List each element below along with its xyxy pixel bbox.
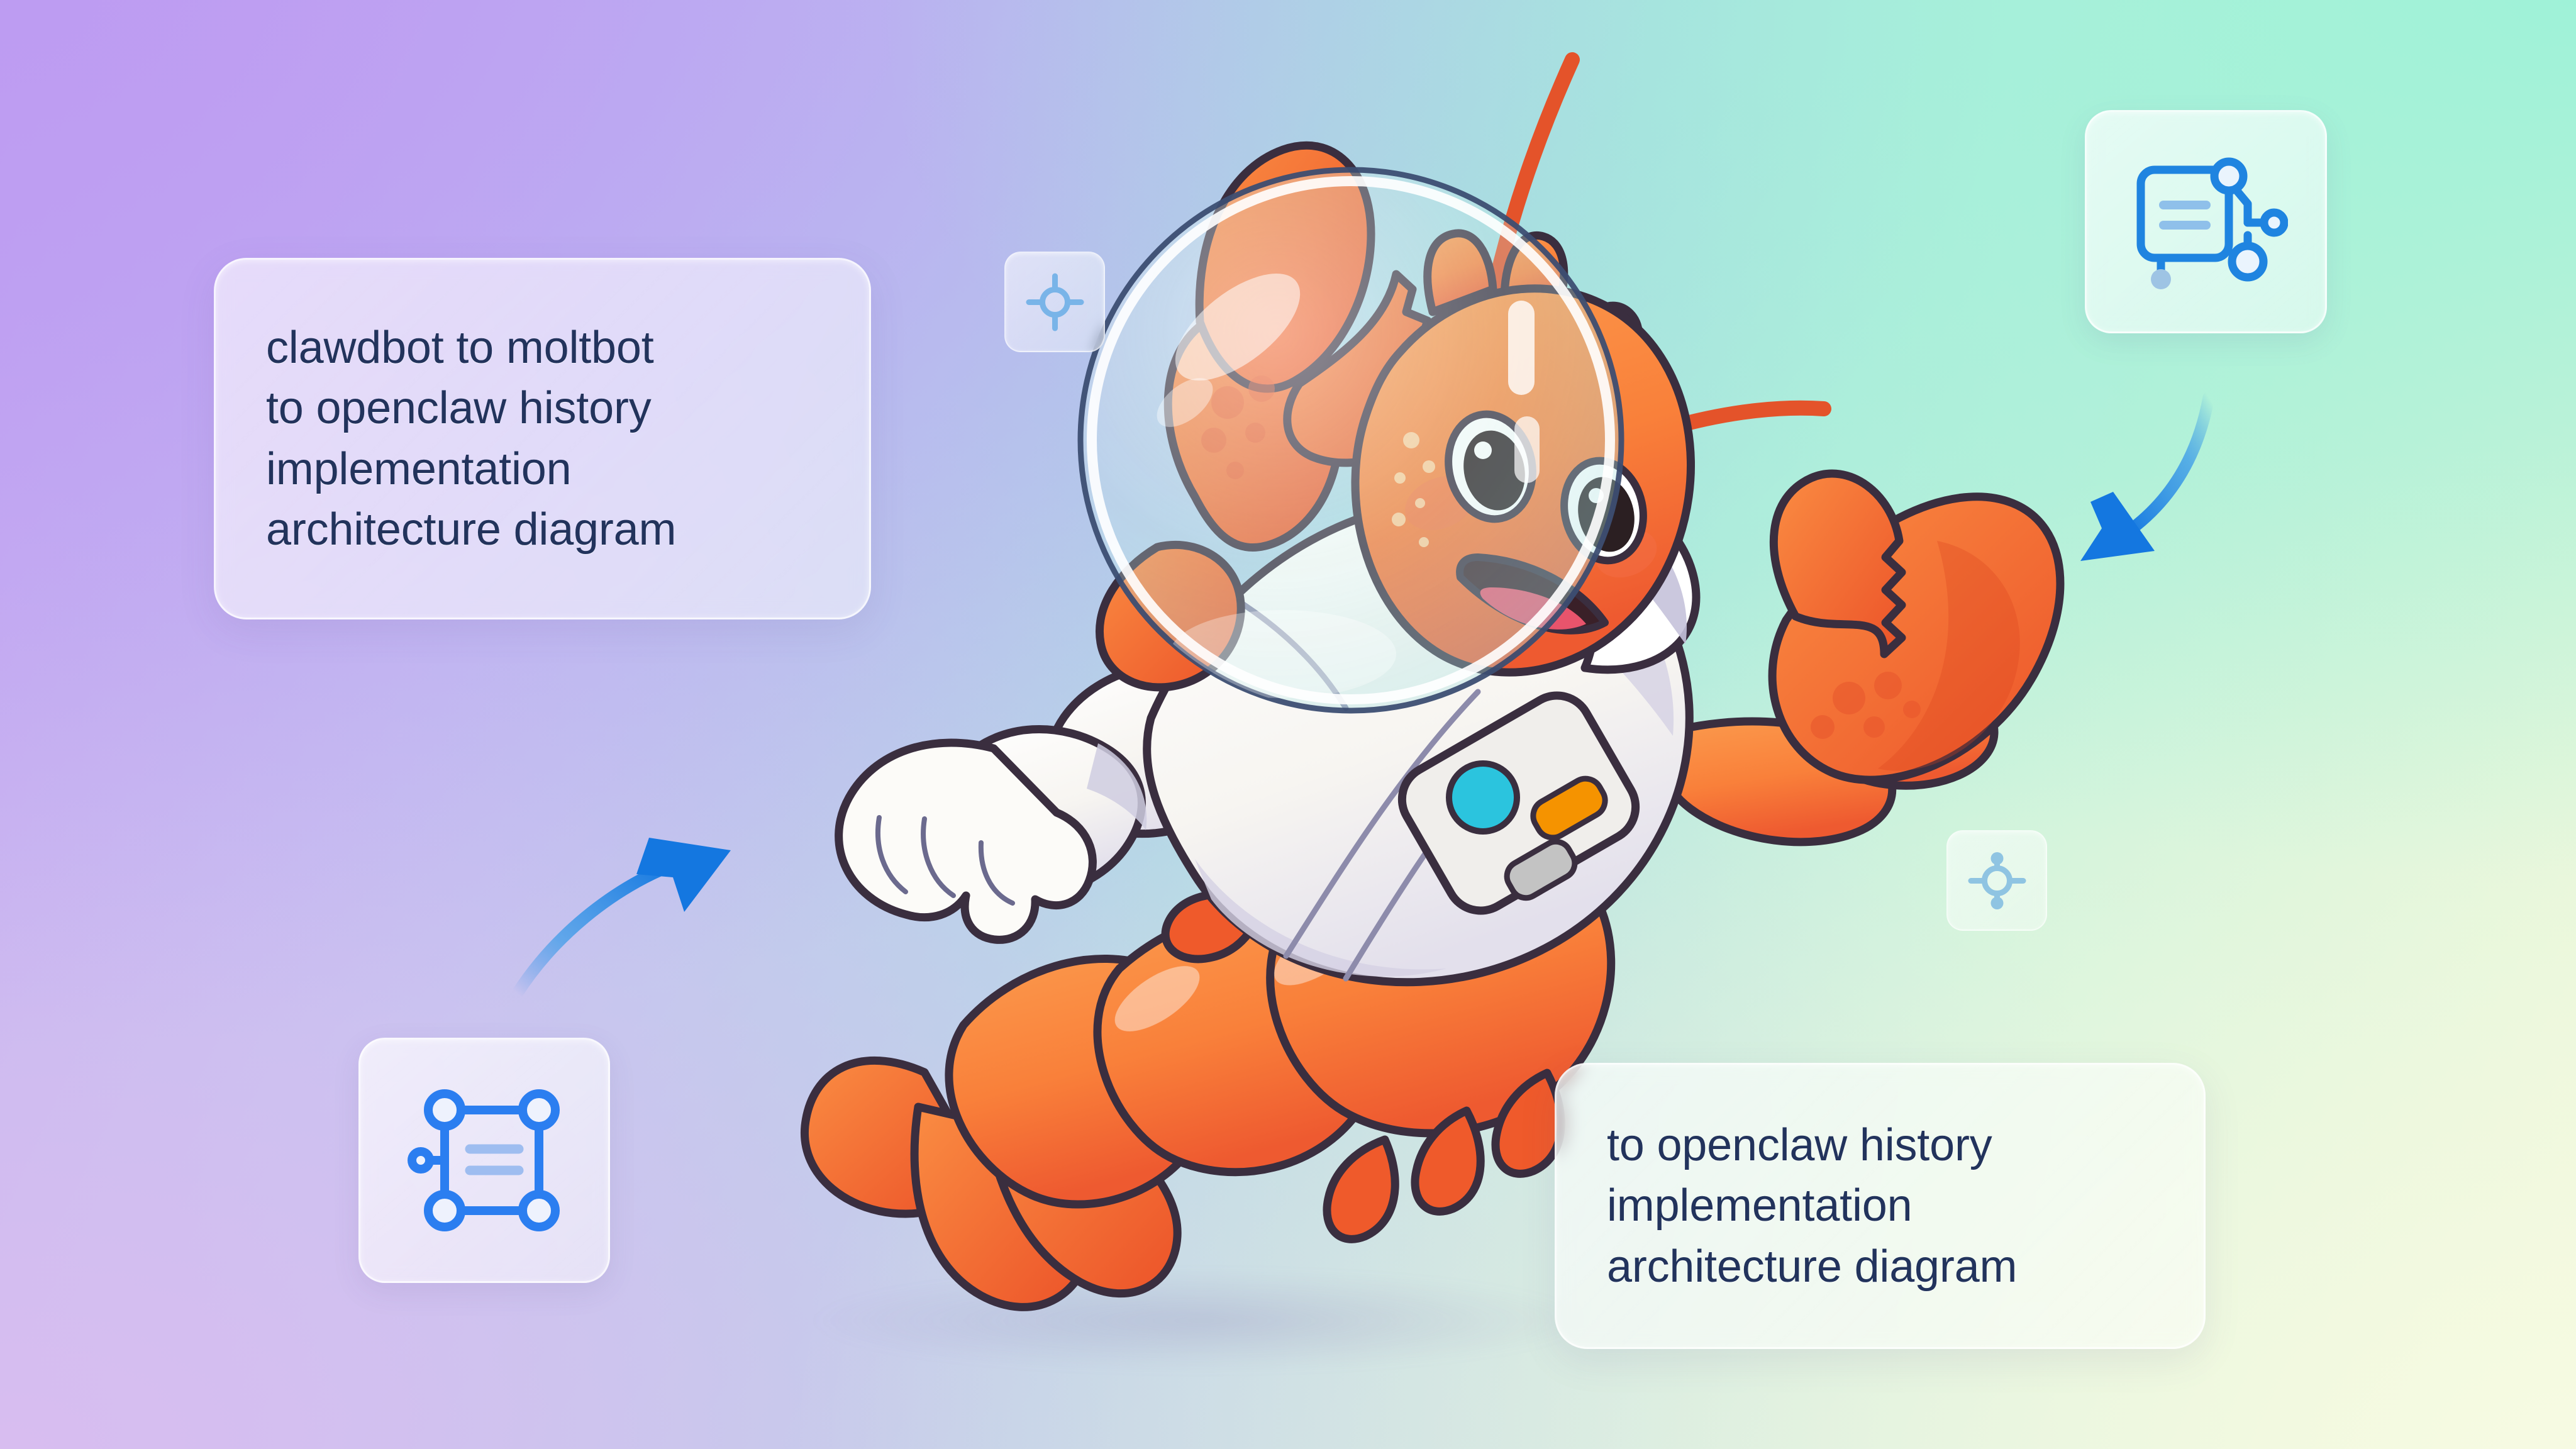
prompt-card-primary-text: clawdbot to moltbot to openclaw history … [216,318,676,560]
prompt-card-secondary-text: to openclaw history implementation archi… [1557,1115,2017,1297]
arrow-up-right-icon [484,780,755,1013]
arrow-down-left-icon [2044,377,2283,591]
diagram-node-square-icon [399,1079,569,1242]
node-crosshair-dot-tile[interactable] [1946,830,2047,931]
diagram-node-square-tile[interactable] [358,1038,610,1283]
node-crosshair-tile[interactable] [1004,252,1105,352]
node-crosshair-dot-icon [1967,851,2027,911]
node-crosshair-icon [1025,272,1085,332]
prompt-card-secondary[interactable]: to openclaw history implementation archi… [1555,1063,2206,1349]
diagram-node-flow-tile[interactable] [2085,110,2327,333]
diagram-node-flow-icon [2124,143,2288,301]
prompt-card-primary[interactable]: clawdbot to moltbot to openclaw history … [214,258,871,619]
scene-canvas: clawdbot to moltbot to openclaw history … [0,0,2576,1449]
